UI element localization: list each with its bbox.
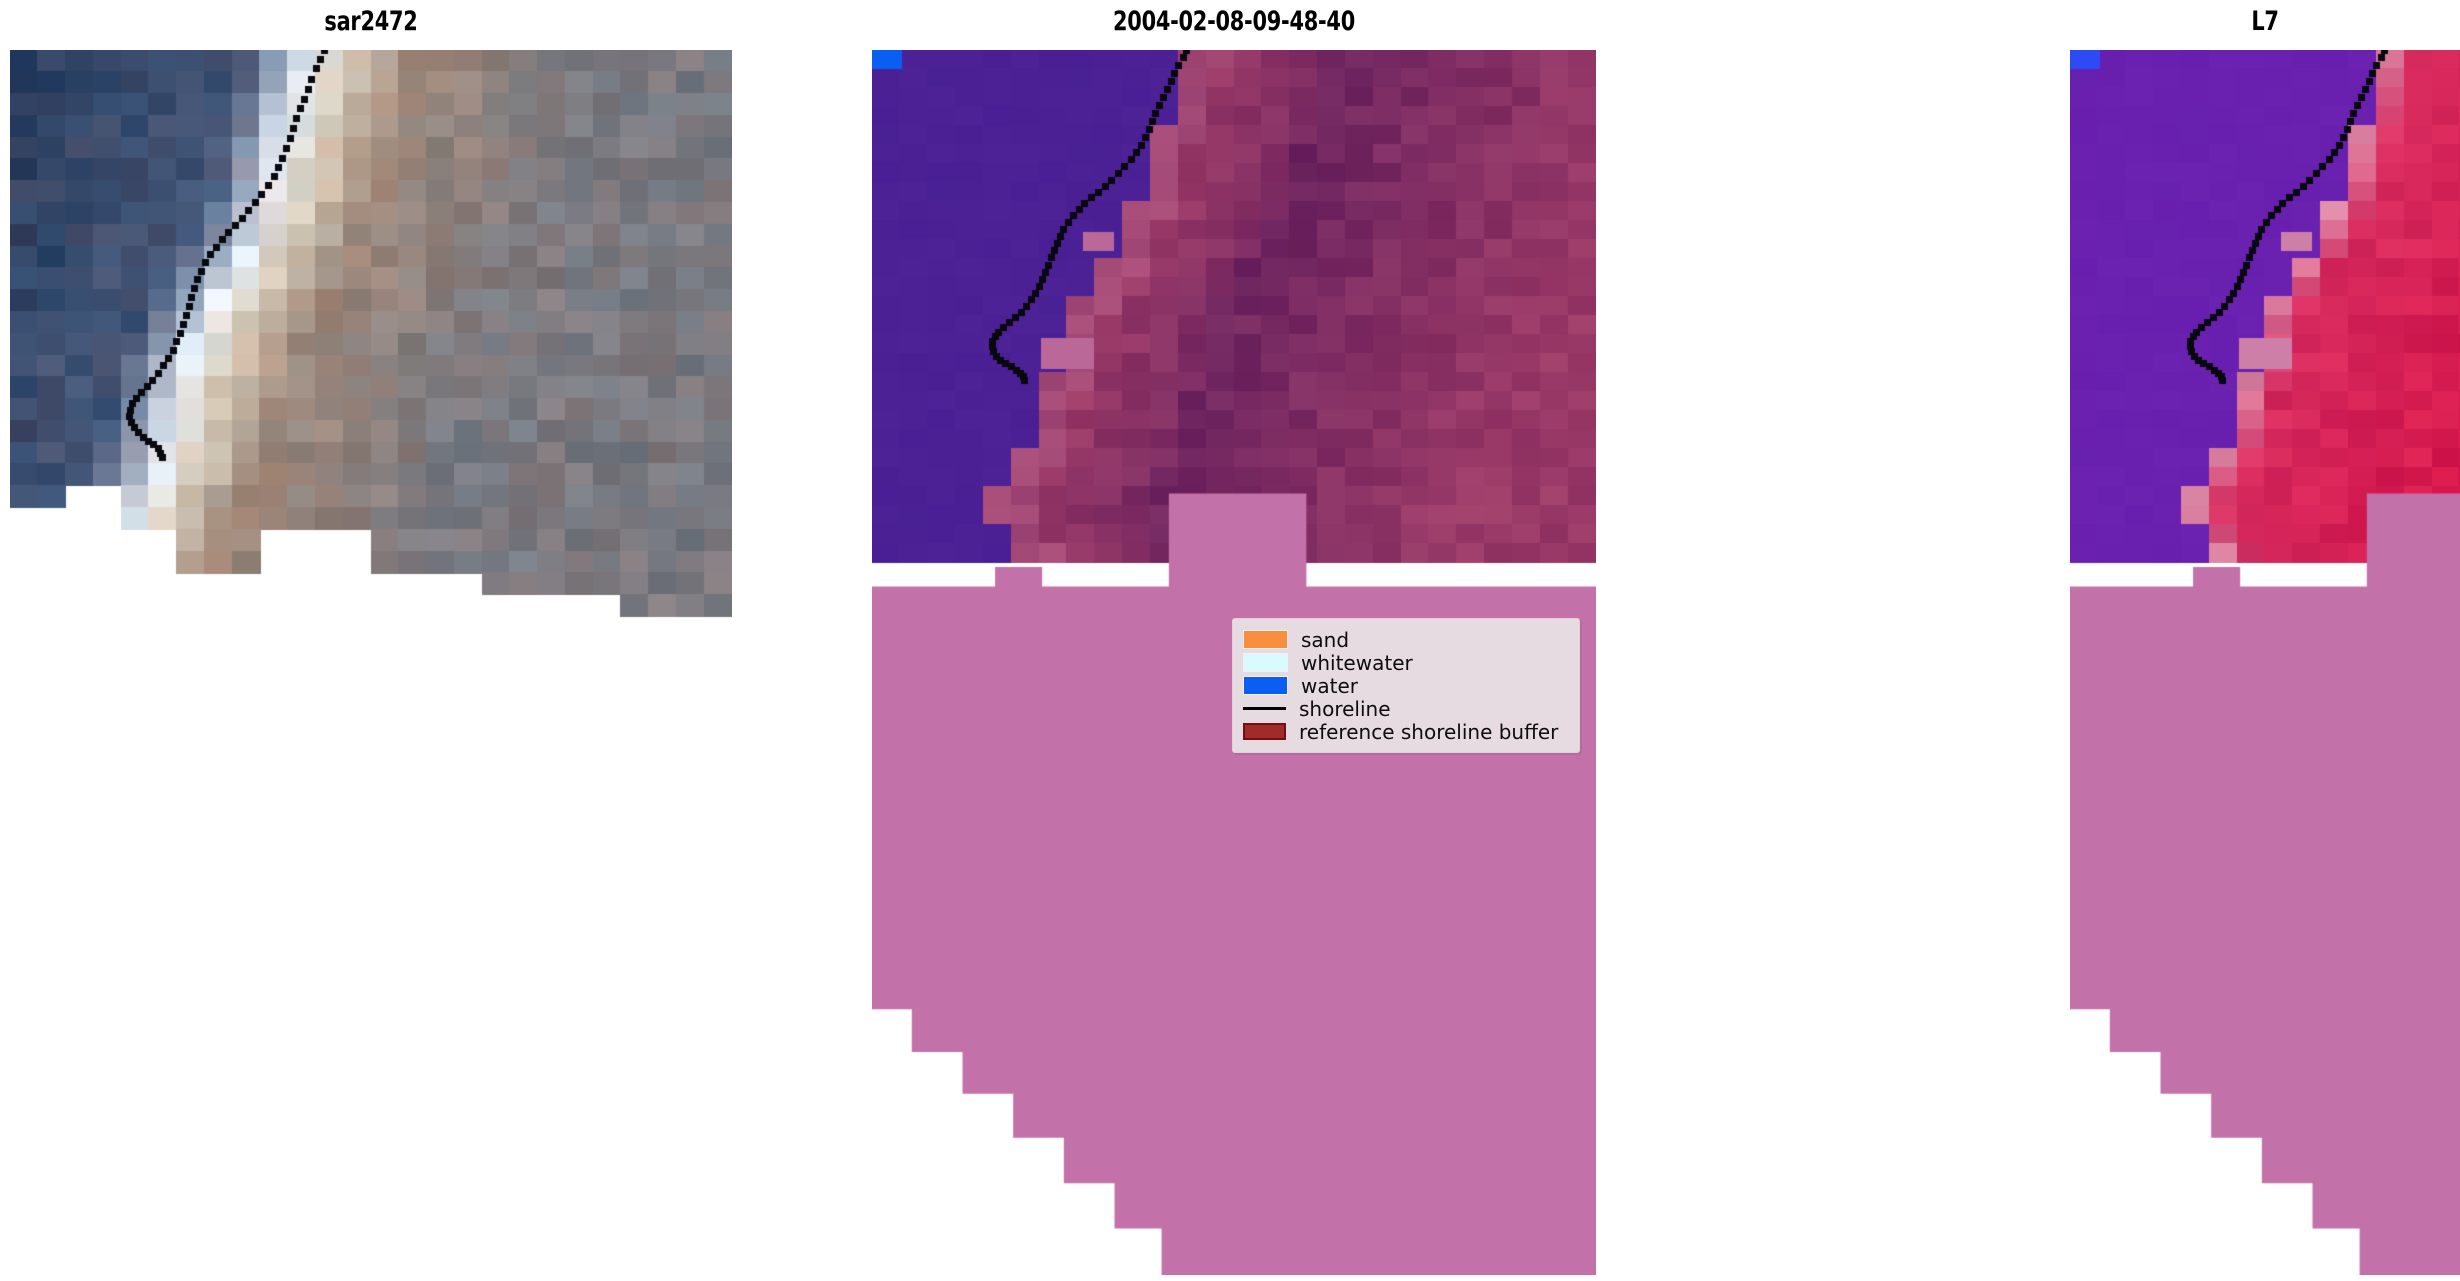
legend-item-reference-buffer[interactable]: reference shoreline buffer (1243, 720, 1567, 743)
map-legend[interactable]: sand whitewater water shoreline referenc… (1232, 618, 1580, 753)
legend-label-reference-buffer: reference shoreline buffer (1299, 720, 1558, 744)
legend-label-whitewater: whitewater (1301, 651, 1413, 675)
legend-item-sand[interactable]: sand (1243, 628, 1567, 651)
legend-label-sand: sand (1301, 628, 1349, 652)
legend-label-water: water (1301, 674, 1358, 698)
raster-l7 (2070, 50, 2460, 1275)
panel-title-l7: L7 (2097, 6, 2432, 37)
whitewater-swatch-icon (1243, 653, 1288, 672)
axes-l7[interactable] (2070, 50, 2460, 1275)
panel-title-sar2472: sar2472 (61, 6, 682, 37)
legend-item-whitewater[interactable]: whitewater (1243, 651, 1567, 674)
legend-label-shoreline: shoreline (1299, 697, 1391, 721)
axes-sar2472[interactable] (10, 50, 732, 860)
panel-title-classified: 2004-02-08-09-48-40 (923, 6, 1546, 37)
panel-sar2472: sar2472 (10, 0, 732, 860)
shoreline-line-icon (1243, 700, 1286, 717)
figure-canvas: sar2472 2004-02-08-09-48-40 sand whitewa… (0, 0, 2460, 1281)
raster-sar2472 (10, 50, 732, 860)
reference-buffer-swatch-icon (1243, 723, 1286, 740)
sand-swatch-icon (1243, 630, 1288, 649)
water-swatch-icon (1243, 676, 1288, 695)
panel-l7: L7 (2070, 0, 2460, 1275)
legend-item-shoreline[interactable]: shoreline (1243, 697, 1567, 720)
panel-classified: 2004-02-08-09-48-40 sand whitewater wate… (872, 0, 1596, 1275)
legend-item-water[interactable]: water (1243, 674, 1567, 697)
